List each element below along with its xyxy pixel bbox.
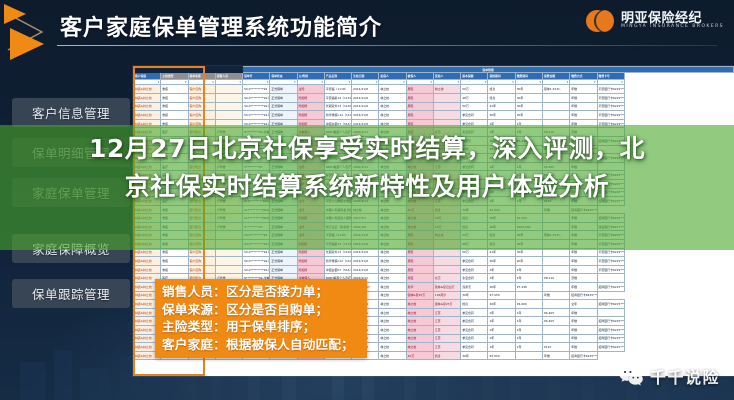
table-cell[interactable]: 年缴 <box>570 93 597 102</box>
note-value: 根据被保人自动匹配； <box>226 336 354 354</box>
table-cell[interactable]: 招商银行卡6225*********817 <box>570 291 597 300</box>
table-cell[interactable] <box>542 334 569 343</box>
table-cell[interactable]: 限单1,3231, <box>542 85 569 94</box>
table-cell[interactable]: 客户自购 <box>188 102 215 111</box>
table-cell[interactable]: 全年 <box>570 300 597 309</box>
table-cell[interactable]: 30年 <box>515 85 542 94</box>
table-cell[interactable]: 50.0*********99-附加险 <box>243 265 270 274</box>
col-head-10[interactable]: 被保人 <box>406 73 433 80</box>
table-cell[interactable]: 年缴 <box>570 102 597 111</box>
sidebar-item-customer-info[interactable]: 客户信息管理 <box>12 98 130 127</box>
table-cell[interactable]: 锦林&复25万 <box>433 300 460 309</box>
table-cell[interactable]: 招商银行卡6225*********817 <box>570 351 597 360</box>
slide-canvas: 保单明细 客户家庭 主险类型 保单来源 销售人员 保单号 保单状态 主/附险 产… <box>0 0 734 400</box>
table-cell[interactable]: 2014/11/8 <box>352 85 379 94</box>
table-cell[interactable]: 41年 <box>488 102 515 111</box>
note-row: 销售人员： 区分是否接力单； <box>162 283 360 301</box>
table-cell[interactable]: 平安银行卡6229*********363 <box>597 102 624 111</box>
table-cell[interactable] <box>215 93 242 102</box>
table-cell[interactable]: 新华重疾C12（1103） <box>324 111 351 120</box>
arrow-decoration-icon <box>0 2 56 64</box>
col-head-3[interactable]: 销售人员 <box>215 73 242 80</box>
table-cell[interactable]: 2014/11/8 <box>352 111 379 120</box>
table-cell[interactable]: 居民 <box>406 93 433 102</box>
sidebar-item-label: 保单跟踪管理 <box>32 284 110 303</box>
table-cell[interactable]: 平安银行卡6229*********363 <box>597 265 624 274</box>
table-cell[interactable]: 正式保单 <box>270 93 297 102</box>
table-cell[interactable]: 1年 <box>515 334 542 343</box>
table-cell[interactable] <box>433 93 460 102</box>
table-cell[interactable]: 终身 <box>488 93 515 102</box>
table-cell[interactable]: 终身 <box>488 85 515 94</box>
table-cell[interactable]: 30年 <box>488 257 515 266</box>
table-cell[interactable]: 趸缴 <box>570 274 597 283</box>
table-cell[interactable]: 年缴 <box>570 334 597 343</box>
table-cell[interactable]: 1年 <box>488 308 515 317</box>
overlay-headline-line-1: 12月27日北京社保享受实时结算，深入评测，北 <box>22 130 712 168</box>
col-head-12[interactable]: 基本保额 <box>461 73 488 80</box>
note-key: 客户家庭： <box>162 336 226 354</box>
table-cell[interactable]: 年缴 <box>570 326 597 335</box>
table-cell[interactable] <box>433 111 460 120</box>
header-divider <box>57 45 717 46</box>
table-cell[interactable]: 平安银行卡6229*********363 <box>597 257 624 266</box>
table-cell[interactable]: 50.0*********99-附加险 <box>243 93 270 102</box>
col-head-0[interactable]: 客户家庭 <box>134 73 161 80</box>
table-cell[interactable]: 50.0*********99-附加险 <box>243 111 270 120</box>
table-cell[interactable]: 林之校 <box>379 85 406 94</box>
table-cell[interactable]: 重疾 <box>161 111 188 120</box>
table-cell[interactable]: 参见合同 <box>461 308 488 317</box>
col-head-4[interactable]: 保单号 <box>243 73 270 80</box>
table-cell[interactable]: 林鑫&林之校 <box>134 265 161 274</box>
table-cell[interactable]: 附加险 <box>297 257 324 266</box>
table-cell[interactable]: 年缴 <box>570 265 597 274</box>
table-cell[interactable]: 2014/11/8 <box>352 102 379 111</box>
table-cell[interactable]: 年缴 <box>570 317 597 326</box>
table-cell[interactable]: 林鑫&林之校 <box>134 93 161 102</box>
table-cell[interactable]: 居民 <box>406 85 433 94</box>
table-cell[interactable]: 年缴 <box>570 85 597 94</box>
table-cell[interactable]: 正式保单 <box>270 102 297 111</box>
table-cell[interactable]: 林鑫&林之校 <box>134 257 161 266</box>
table-cell[interactable]: 2014/11/8 <box>352 257 379 266</box>
table-cell[interactable]: 48万 <box>461 93 488 102</box>
table-cell[interactable]: 正式保单 <box>270 265 297 274</box>
table-cell[interactable]: 30年 <box>461 351 488 360</box>
table-cell[interactable]: 林之校 <box>406 334 433 343</box>
brand-name-en: MINGYA INSURANCE BROKERS <box>621 25 724 30</box>
table-cell[interactable]: 年缴 <box>570 283 597 292</box>
table-cell[interactable]: 锦林&复记白万 <box>433 283 460 292</box>
table-header-row[interactable]: 客户家庭 主险类型 保单来源 销售人员 保单号 保单状态 主/附险 产品名称 生… <box>134 73 734 80</box>
table-cell[interactable] <box>597 274 624 283</box>
table-cell[interactable]: 长期意外13（1120） <box>324 102 351 111</box>
mingya-logo-icon <box>586 8 616 34</box>
table-cell[interactable]: 林之校 <box>379 326 406 335</box>
table-cell[interactable]: 招商银行卡6225*********817 <box>597 283 624 292</box>
table-cell[interactable]: 参见合同 <box>461 317 488 326</box>
table-cell[interactable]: 重疾 <box>161 257 188 266</box>
table-cell[interactable]: 20年 <box>515 257 542 266</box>
table-cell[interactable]: 林鑫&林之校 <box>134 111 161 120</box>
table-cell[interactable]: ¥3,920 <box>488 351 515 360</box>
table-cell[interactable]: 重疾 <box>161 102 188 111</box>
overlay-headline-line-2: 京社保实时结算系统新特性及用户体验分析 <box>22 168 712 206</box>
table-cell[interactable]: 年缴 <box>570 257 597 266</box>
table-cell[interactable] <box>542 93 569 102</box>
col-head-14[interactable]: 缴费期间 <box>515 73 542 80</box>
table-cell[interactable]: 招商银行卡6225*********817 <box>597 334 624 343</box>
table-cell[interactable]: 重疾 <box>161 265 188 274</box>
table-cell[interactable] <box>215 265 242 274</box>
table-cell[interactable]: 林之校 <box>379 274 406 283</box>
col-head-1[interactable]: 主险类型 <box>161 73 188 80</box>
table-cell[interactable]: 附加险 <box>297 93 324 102</box>
table-cell[interactable]: 林之校 <box>379 283 406 292</box>
table-cell[interactable]: 终身 <box>461 300 488 309</box>
table-cell[interactable]: 重疾 <box>161 85 188 94</box>
table-cell[interactable]: 林之校 <box>406 317 433 326</box>
table-cell[interactable]: 30年 <box>488 283 515 292</box>
brand-logo: 明亚保险经纪 MINGYA INSURANCE BROKERS <box>586 8 724 34</box>
table-cell[interactable]: 50.0*********99 <box>243 85 270 94</box>
table-cell[interactable]: 新华重疾C12（1103） <box>324 257 351 266</box>
table-cell[interactable]: 30年 <box>461 291 488 300</box>
table-cell[interactable] <box>515 291 542 300</box>
table-cell[interactable]: 林之校 <box>406 326 433 335</box>
table-row[interactable]: 林鑫&林之校重疾客户自购50.0*********99-附加险正式保单附加险平安… <box>134 93 734 102</box>
table-cell[interactable]: 林之校 <box>379 300 406 309</box>
table-cell[interactable]: 林之校 <box>406 308 433 317</box>
table-cell[interactable] <box>542 102 569 111</box>
table-row[interactable]: 林鑫&林之校重疾客户自购50.0*********99正式保单主险平安福（111… <box>134 85 734 94</box>
table-cell[interactable]: 年缴 <box>542 291 569 300</box>
feature-notes-panel: 销售人员： 区分是否接力单； 保单来源： 区分是否自购单； 主险类型： 用于保单… <box>155 279 367 358</box>
table-row[interactable]: 林鑫&林之校重疾客户自购50.0*********99-附加险正式保单附加险新华… <box>134 257 734 266</box>
col-head-6[interactable]: 主/附险 <box>297 73 324 80</box>
table-cell[interactable]: 1年 <box>488 334 515 343</box>
slide-header: 客户家庭保单管理系统功能简介 明亚保险经纪 MINGYA INSURANCE B… <box>0 0 734 62</box>
col-head-5[interactable]: 保单状态 <box>270 73 297 80</box>
note-row: 保单来源： 区分是否自购单； <box>162 301 360 319</box>
table-cell[interactable]: 1年 <box>488 317 515 326</box>
table-cell[interactable] <box>433 257 460 266</box>
table-cell[interactable]: 泰豆合同 <box>461 274 488 283</box>
table-cell[interactable]: 1年 <box>515 343 542 352</box>
col-head-8[interactable]: 生效日期 <box>352 73 379 80</box>
col-head-11[interactable]: 受益人 <box>433 73 460 80</box>
table-cell[interactable]: 终身 <box>433 351 460 360</box>
table-cell[interactable]: 1年 <box>515 265 542 274</box>
table-cell[interactable]: 年缴 <box>542 351 569 360</box>
table-cell[interactable]: 平安银行卡6229*********363 <box>597 93 624 102</box>
table-cell[interactable]: 客户自购 <box>188 257 215 266</box>
table-cell[interactable]: 参见合同 <box>461 257 488 266</box>
page-title: 客户家庭保单管理系统功能简介 <box>60 10 382 42</box>
table-cell[interactable]: 重疾 <box>161 93 188 102</box>
table-cell[interactable]: 江苏 <box>433 334 460 343</box>
note-key: 销售人员： <box>162 283 226 301</box>
table-cell[interactable]: 林之校 <box>406 343 433 352</box>
table-cell[interactable]: 1年 <box>488 274 515 283</box>
note-key: 主险类型： <box>162 318 226 336</box>
table-cell[interactable]: 林之校 <box>379 257 406 266</box>
table-cell[interactable]: 50万 <box>461 102 488 111</box>
table-cell[interactable] <box>215 257 242 266</box>
table-cell[interactable]: 林之校 <box>379 265 406 274</box>
table-cell[interactable]: 附加险 <box>297 265 324 274</box>
table-cell[interactable]: 1年 <box>515 317 542 326</box>
table-cell[interactable]: 40万 <box>406 351 433 360</box>
table-cell[interactable]: 平安福（1118） <box>324 85 351 94</box>
table-cell[interactable] <box>542 257 569 266</box>
table-cell[interactable]: 中银白银07（516） <box>324 265 351 274</box>
wechat-watermark: 千千说险 <box>618 364 720 388</box>
table-cell[interactable]: 林之校 <box>379 317 406 326</box>
table-cell[interactable]: 北京 <box>433 274 460 283</box>
col-head-9[interactable]: 投保人 <box>379 73 406 80</box>
table-cell[interactable] <box>542 326 569 335</box>
table-cell[interactable]: 参见合同 <box>461 343 488 352</box>
note-row: 客户家庭： 根据被保人自动匹配； <box>162 336 360 354</box>
watermark-label: 千千说险 <box>650 364 720 388</box>
table-cell[interactable]: 平安银行卡6229*********363 <box>597 85 624 94</box>
table-cell[interactable] <box>433 265 460 274</box>
col-head-16[interactable]: 缴费方式 <box>570 73 597 80</box>
overlay-headline: 12月27日北京社保享受实时结算，深入评测，北 京社保实时结算系统新特性及用户体… <box>0 130 734 206</box>
note-row: 主险类型： 用于保单排序； <box>162 318 360 336</box>
table-cell[interactable]: ¥8,110 <box>542 274 569 283</box>
table-cell[interactable]: 平安福星14（1131） <box>324 93 351 102</box>
table-cell[interactable]: 招商银行卡6225*********817 <box>597 300 624 309</box>
table-cell[interactable]: 1年 <box>515 326 542 335</box>
table-cell[interactable]: 林之校 <box>379 308 406 317</box>
table-cell[interactable]: 林之校 <box>379 334 406 343</box>
table-cell[interactable]: 50.0*********99-附加险 <box>243 257 270 266</box>
table-cell[interactable]: 客户自购 <box>188 265 215 274</box>
table-cell[interactable]: 林鑫&林之校 <box>134 85 161 94</box>
table-cell[interactable]: 20年 <box>515 111 542 120</box>
table-cell[interactable]: 居民 <box>406 265 433 274</box>
table-cell[interactable]: 附加险 <box>297 111 324 120</box>
table-cell[interactable] <box>515 351 542 360</box>
table-cell[interactable]: 锦林&复25万 <box>406 291 433 300</box>
table-cell[interactable]: 1年 <box>488 326 515 335</box>
table-cell[interactable]: 年缴 <box>570 308 597 317</box>
table-cell[interactable]: 江苏 <box>433 308 460 317</box>
table-cell[interactable]: 林鑫&林之校 <box>134 102 161 111</box>
table-cell[interactable]: 客户自购 <box>188 93 215 102</box>
table-cell[interactable]: 50万 <box>461 85 488 94</box>
table-cell[interactable]: 参见合同 <box>461 334 488 343</box>
note-value: 区分是否接力单； <box>226 283 328 301</box>
table-cell[interactable]: 招商银行卡6225*********817 <box>597 326 624 335</box>
col-head-2[interactable]: 保单来源 <box>188 73 215 80</box>
note-key: 保单来源： <box>162 301 226 319</box>
table-cell[interactable]: 正式保单 <box>270 257 297 266</box>
col-head-7[interactable]: 产品名称 <box>324 73 351 80</box>
table-cell[interactable]: 30年 <box>515 102 542 111</box>
table-cell[interactable]: 林之校 <box>379 93 406 102</box>
sidebar-item-policy-tracking[interactable]: 保单跟踪管理 <box>12 279 130 308</box>
table-cell[interactable]: ¥7,448 <box>515 283 542 292</box>
table-cell[interactable]: 正式保单 <box>270 111 297 120</box>
table-row[interactable]: 林鑫&林之校重疾客户自购50.0*********99-附加险正式保单附加险新华… <box>134 111 734 120</box>
table-cell[interactable]: 年缴 <box>570 343 597 352</box>
table-cell[interactable]: 居民 <box>406 257 433 266</box>
table-cell[interactable]: 2014/11/8 <box>352 265 379 274</box>
table-cell[interactable] <box>542 283 569 292</box>
table-cell[interactable]: 双勇灵 <box>461 283 488 292</box>
table-cell[interactable] <box>597 308 624 317</box>
table-row[interactable]: 林鑫&林之校重疾客户自购50.0*********99-附加险正式保单附加险中银… <box>134 265 734 274</box>
table-cell[interactable] <box>542 265 569 274</box>
table-cell[interactable]: 参见合同 <box>461 326 488 335</box>
table-cell[interactable]: 居民 <box>406 111 433 120</box>
table-cell[interactable] <box>215 85 242 94</box>
table-cell[interactable]: ¥7,450 <box>488 291 515 300</box>
table-cell[interactable]: 林之校 <box>379 111 406 120</box>
table-cell[interactable]: 50.0*********99-附加险 <box>243 102 270 111</box>
table-cell[interactable]: 年缴 <box>570 111 597 120</box>
col-head-15[interactable]: 保费金额 <box>542 73 569 80</box>
table-cell[interactable]: ¥4,600 <box>515 300 542 309</box>
table-cell[interactable]: 林之校 <box>433 85 460 94</box>
table-cell[interactable]: 附加险 <box>297 102 324 111</box>
table-cell[interactable] <box>542 300 569 309</box>
table-cell[interactable]: 林之校 <box>379 351 406 360</box>
table-cell[interactable]: 主险 <box>297 85 324 94</box>
table-cell[interactable]: 1年 <box>515 308 542 317</box>
table-cell[interactable]: 客户自购 <box>188 111 215 120</box>
table-cell[interactable] <box>433 102 460 111</box>
table-cell[interactable]: 参见合同 <box>461 111 488 120</box>
table-cell[interactable]: 林之校 <box>406 300 433 309</box>
table-cell[interactable]: 2014/11/8 <box>352 93 379 102</box>
sidebar-item-label: 客户信息管理 <box>32 103 110 122</box>
note-value: 区分是否自购单； <box>226 301 328 319</box>
table-cell[interactable]: 林之校 <box>379 343 406 352</box>
table-cell[interactable]: 平安银行卡6229*********363 <box>597 111 624 120</box>
table-cell[interactable]: 招商银行卡6225*********817 <box>597 343 624 352</box>
table-cell[interactable]: 30年 <box>515 93 542 102</box>
table-cell[interactable]: 参见合同 <box>461 265 488 274</box>
col-head-17[interactable]: 缴费卡号 <box>597 73 624 80</box>
table-cell[interactable]: 106周岁 <box>433 291 460 300</box>
table-cell[interactable]: 招商银行卡6225*********817 <box>597 317 624 326</box>
table-cell[interactable]: 林之校 <box>379 291 406 300</box>
table-cell[interactable]: 1年 <box>488 343 515 352</box>
table-cell[interactable]: ¥197 <box>542 343 569 352</box>
note-value: 用于保单排序； <box>226 318 316 336</box>
table-cell[interactable]: 客户自购 <box>188 85 215 94</box>
table-cell[interactable]: 新华 <box>406 283 433 292</box>
table-cell[interactable]: 30年 <box>488 111 515 120</box>
wechat-icon <box>618 365 644 387</box>
table-cell[interactable]: 30年 <box>488 300 515 309</box>
table-cell[interactable] <box>215 102 242 111</box>
table-cell[interactable] <box>215 111 242 120</box>
table-cell[interactable]: 1年 <box>515 274 542 283</box>
table-cell[interactable]: 江苏 <box>433 343 460 352</box>
table-row[interactable]: 林鑫&林之校重疾客户自购50.0*********99-附加险正式保单附加险长期… <box>134 102 734 111</box>
table-cell[interactable] <box>542 111 569 120</box>
table-cell[interactable]: 正式保单 <box>270 85 297 94</box>
table-cell[interactable]: ¥6,405 <box>542 308 569 317</box>
table-cell[interactable]: 纯佳 <box>406 274 433 283</box>
table-cell[interactable]: 林之校 <box>379 102 406 111</box>
table-cell[interactable]: ¥6,405 <box>542 317 569 326</box>
table-cell[interactable]: 江苏 <box>433 317 460 326</box>
table-cell[interactable]: 1年 <box>488 265 515 274</box>
table-cell[interactable]: 居民 <box>406 102 433 111</box>
table-cell[interactable]: 江苏 <box>433 326 460 335</box>
col-head-13[interactable]: 保险期间 <box>488 73 515 80</box>
